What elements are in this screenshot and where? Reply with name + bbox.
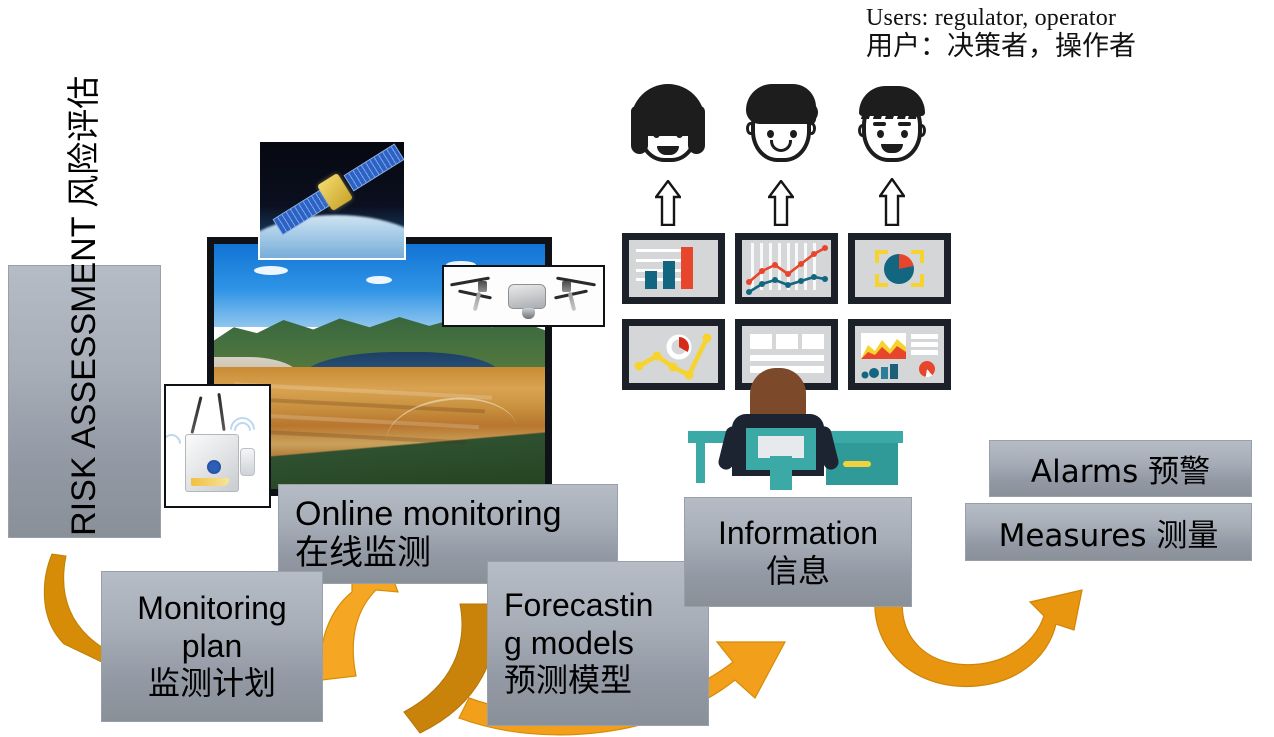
up-arrow-to-male-avatar-short-hair [879, 178, 905, 224]
up-arrow-to-female-avatar [655, 180, 681, 226]
line-chart-monitor [735, 233, 838, 304]
measures-box[interactable]: Measures 测量 [965, 503, 1252, 561]
up-arrow-to-male-avatar-young [768, 180, 794, 226]
male-avatar-short-hair [849, 80, 935, 170]
online-monitoring-label-en: Online monitoring [295, 495, 617, 534]
satellite-photo [258, 140, 406, 260]
forecasting-models-label-line2: g models [504, 625, 708, 662]
female-avatar [625, 80, 711, 170]
male-avatar-young [738, 80, 824, 170]
forecasting-models-box[interactable]: Forecastin g models 预测模型 [487, 561, 709, 726]
users-caption-zh: 用户：决策者，操作者 [866, 32, 1266, 62]
alarms-label: Alarms 预警 [990, 446, 1251, 491]
information-box[interactable]: Information 信息 [684, 497, 912, 607]
risk-assessment-label: RISK ASSESSMENT 风险评估 [67, 268, 103, 536]
monitoring-plan-label-line1: Monitoring [102, 590, 322, 628]
monitoring-plan-label-line2: plan [102, 628, 322, 666]
operator-at-desk [688, 368, 903, 495]
information-label-zh: 信息 [685, 552, 911, 590]
measures-label: Measures 测量 [966, 510, 1251, 555]
pie-chart-monitor [848, 233, 951, 304]
wireless-sensor-gateway-photo [164, 384, 271, 508]
users-caption-en: Users: regulator, operator [866, 5, 1266, 32]
bar-chart-monitor [622, 233, 725, 304]
forecasting-models-label-zh: 预测模型 [504, 662, 708, 699]
forecasting-models-label-line1: Forecastin [504, 587, 708, 624]
drone-photo [442, 265, 605, 327]
diagram-canvas: Users: regulator, operator 用户：决策者，操作者 [0, 0, 1274, 737]
users-caption: Users: regulator, operator 用户：决策者，操作者 [866, 5, 1266, 62]
alarms-box[interactable]: Alarms 预警 [989, 440, 1252, 497]
information-label-en: Information [685, 514, 911, 552]
risk-assessment-box[interactable]: RISK ASSESSMENT 风险评估 [8, 265, 161, 538]
monitoring-plan-label-zh: 监测计划 [102, 665, 322, 703]
monitoring-plan-box[interactable]: Monitoring plan 监测计划 [101, 571, 323, 722]
